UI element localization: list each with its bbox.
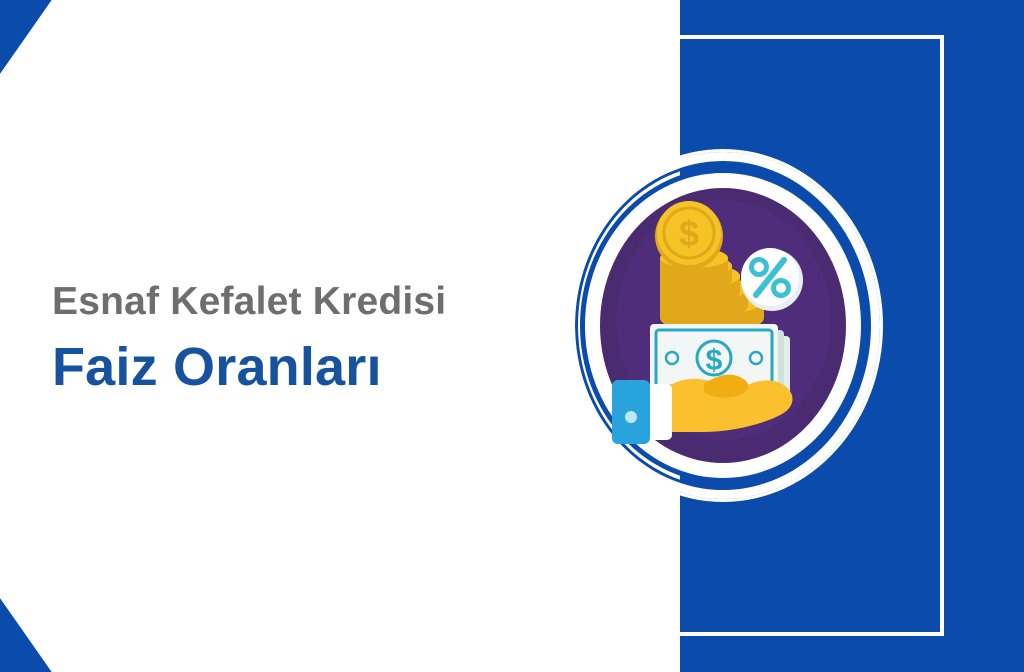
- svg-text:$: $: [679, 213, 699, 254]
- kicker-text: Esnaf Kefalet Kredisi: [52, 282, 572, 323]
- banner-root: $ $: [0, 0, 1024, 672]
- open-hand-icon: [612, 375, 793, 444]
- text-block: Esnaf Kefalet Kredisi Faiz Oranları: [52, 282, 572, 396]
- money-in-hand-illustration: $ $: [600, 188, 846, 463]
- percent-badge-icon: [741, 248, 803, 311]
- emblem: $ $: [566, 152, 880, 499]
- headline-text: Faiz Oranları: [52, 339, 572, 396]
- svg-text:$: $: [706, 344, 723, 377]
- dollar-coin-icon: $: [655, 201, 723, 270]
